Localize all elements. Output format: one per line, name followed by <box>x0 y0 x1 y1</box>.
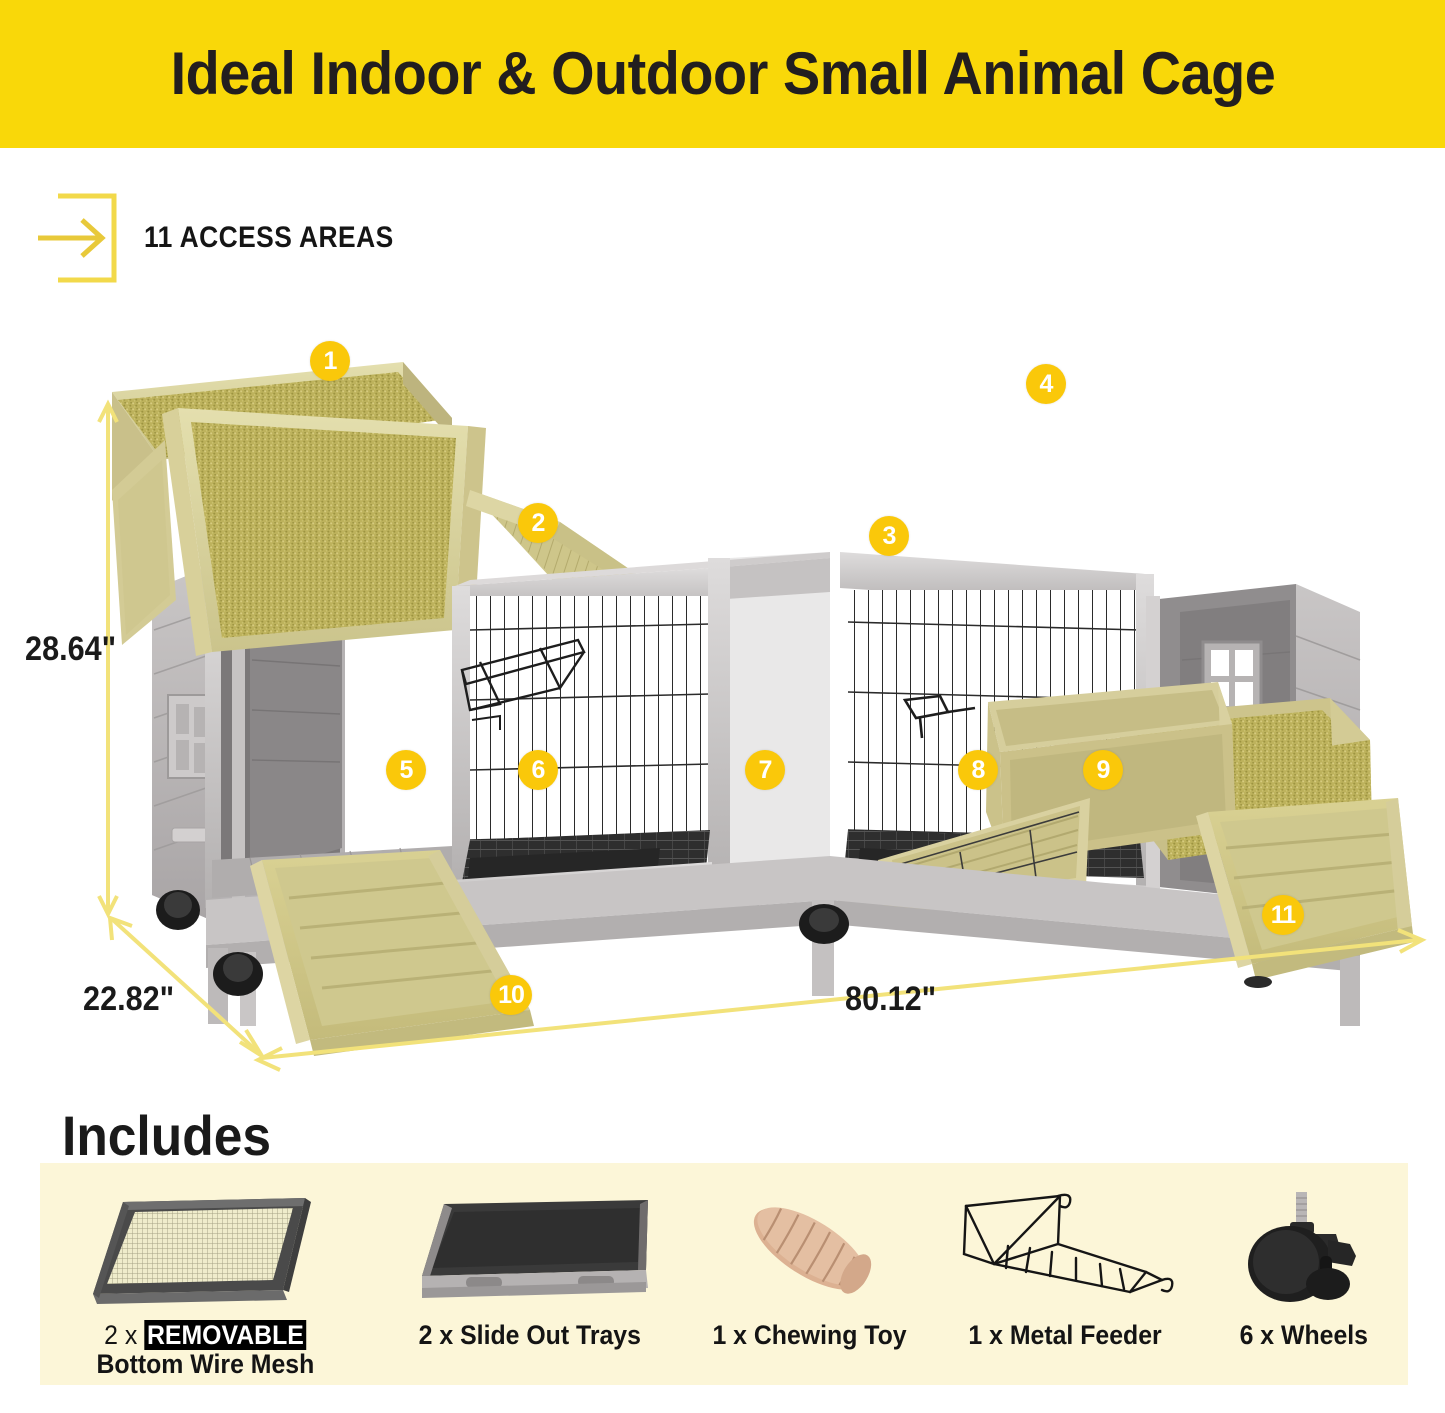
dimension-depth-label: 22.82" <box>83 980 174 1019</box>
metal-feeder-icon <box>950 1185 1180 1313</box>
include-caption-slide-tray: 2 x Slide Out Trays <box>419 1321 641 1350</box>
include-caption-metal-feeder: 1 x Metal Feeder <box>968 1321 1161 1350</box>
include-caption-wire-mesh: 2 x REMOVABLE Bottom Wire Mesh <box>96 1321 314 1379</box>
page-title: Ideal Indoor & Outdoor Small Animal Cage <box>170 44 1275 104</box>
infographic-page: Ideal Indoor & Outdoor Small Animal Cage… <box>0 0 1445 1413</box>
caster-wheel-icon <box>1224 1185 1384 1313</box>
access-areas-label: 11 ACCESS AREAS <box>144 221 394 255</box>
slide-out-tray-icon <box>400 1185 660 1313</box>
enter-arrow-icon <box>38 192 120 284</box>
callout-badge-10: 10 <box>490 975 532 1015</box>
chewing-toy-icon <box>720 1185 900 1313</box>
include-item-wire-mesh: 2 x REMOVABLE Bottom Wire Mesh <box>40 1185 370 1379</box>
dimension-height-label: 28.64" <box>25 630 116 669</box>
product-illustration: 1 2 3 4 5 6 7 8 9 10 11 <box>0 300 1445 1100</box>
dimension-width-label: 80.12" <box>845 980 936 1019</box>
callout-badge-7: 7 <box>745 750 785 790</box>
callout-badge-2: 2 <box>518 503 558 543</box>
include-item-wheels: 6 x Wheels <box>1200 1185 1408 1350</box>
include-item-slide-tray: 2 x Slide Out Trays <box>370 1185 690 1350</box>
callout-badge-11: 11 <box>1262 895 1304 935</box>
include-caption-wheels: 6 x Wheels <box>1240 1321 1368 1350</box>
include-item-metal-feeder: 1 x Metal Feeder <box>930 1185 1200 1350</box>
callout-badge-4: 4 <box>1026 364 1066 404</box>
callout-badge-9: 9 <box>1083 750 1123 790</box>
callout-badge-8: 8 <box>958 750 998 790</box>
include-caption-chewing-toy: 1 x Chewing Toy <box>713 1321 907 1350</box>
includes-title: Includes <box>62 1108 271 1164</box>
callout-badge-1: 1 <box>310 341 350 381</box>
wire-mesh-tray-icon <box>77 1185 333 1313</box>
callout-badge-5: 5 <box>386 750 426 790</box>
include-qty-wire-mesh: 2 x <box>104 1320 137 1350</box>
wire-panel-left <box>462 596 710 846</box>
access-areas-row: 11 ACCESS AREAS <box>38 190 428 286</box>
include-highlight-removable: REMOVABLE <box>144 1320 306 1350</box>
include-caption-line2-wire-mesh: Bottom Wire Mesh <box>96 1350 314 1379</box>
callout-badge-3: 3 <box>869 516 909 556</box>
includes-items: 2 x REMOVABLE Bottom Wire Mesh 2 x <box>40 1185 1408 1413</box>
callout-badge-6: 6 <box>518 750 558 790</box>
header-banner: Ideal Indoor & Outdoor Small Animal Cage <box>0 0 1445 148</box>
include-item-chewing-toy: 1 x Chewing Toy <box>690 1185 930 1350</box>
